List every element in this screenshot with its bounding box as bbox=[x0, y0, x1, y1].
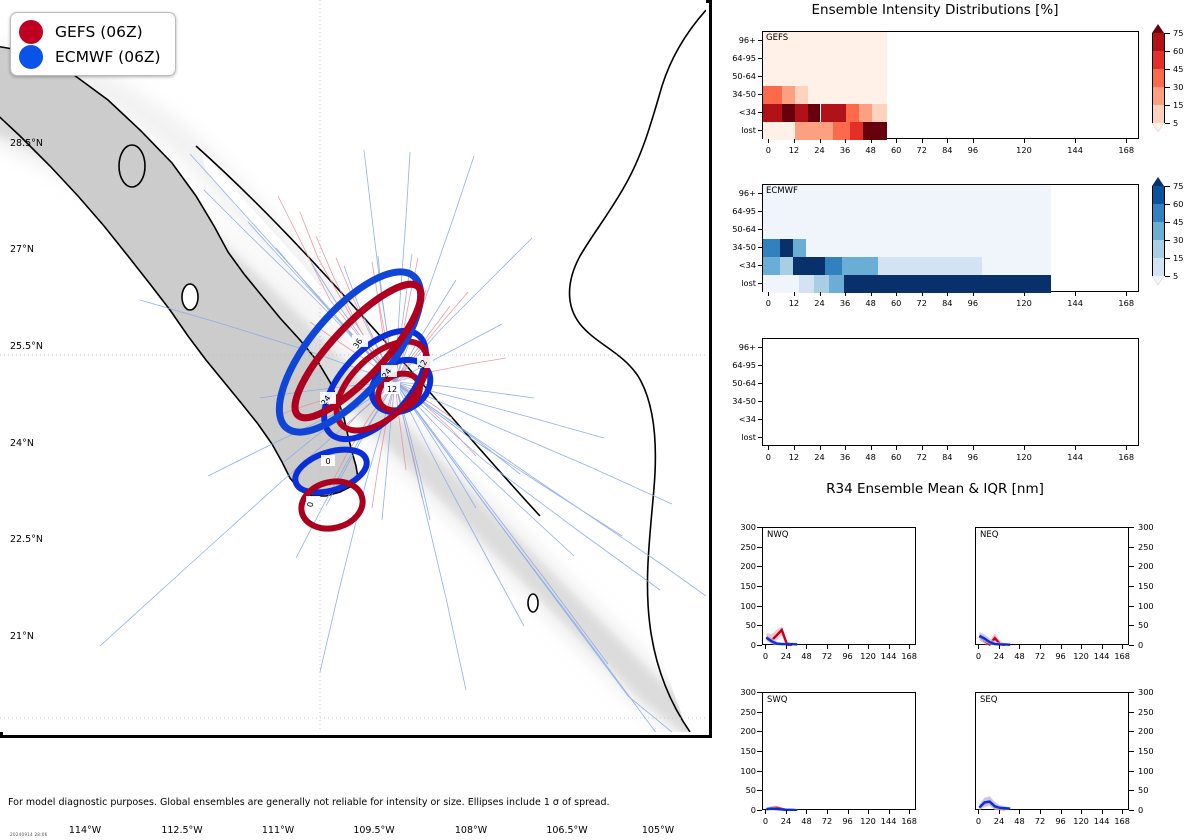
axis-tick bbox=[768, 292, 769, 296]
intensity-x-tick: 24 bbox=[814, 145, 824, 155]
axis-tick bbox=[1126, 292, 1127, 296]
intensity-y-tick: 64-95 bbox=[720, 206, 756, 216]
axis-tick bbox=[757, 586, 762, 587]
r34-panel-seq[interactable] bbox=[975, 692, 1129, 810]
r34-x-tick: 0 bbox=[763, 816, 768, 826]
r34-x-tick: 96 bbox=[842, 816, 852, 826]
legend-label-gefs: GEFS (06Z) bbox=[55, 23, 143, 41]
heatmap-cell bbox=[763, 86, 782, 104]
axis-tick bbox=[827, 645, 828, 649]
axis-tick bbox=[1129, 645, 1134, 646]
colorbar-tick-label: 60 bbox=[1173, 46, 1183, 56]
colorbar-tick bbox=[1165, 258, 1170, 259]
heatmap-cell bbox=[780, 257, 793, 275]
lat-label-3: 25.5°N bbox=[10, 341, 43, 352]
colorbar-tick-label: 15 bbox=[1173, 253, 1183, 263]
axis-tick bbox=[845, 292, 846, 296]
colorbar-tick bbox=[1165, 240, 1170, 241]
axis-tick bbox=[758, 265, 762, 266]
r34-panel-nwq[interactable] bbox=[762, 527, 916, 645]
r34-y-tick: 200 bbox=[722, 561, 756, 571]
axis-tick bbox=[1081, 645, 1082, 649]
axis-tick bbox=[1102, 810, 1103, 814]
axis-tick bbox=[794, 139, 795, 143]
axis-tick bbox=[999, 645, 1000, 649]
r34-y-tick: 100 bbox=[722, 766, 756, 776]
heatmap-cell bbox=[763, 239, 780, 257]
axis-tick bbox=[1129, 810, 1134, 811]
axis-tick bbox=[1075, 292, 1076, 296]
r34-x-tick: 144 bbox=[881, 651, 897, 661]
r34-x-tick: 72 bbox=[822, 651, 832, 661]
heatmap-cell bbox=[793, 239, 806, 257]
intensity-x-tick: 84 bbox=[942, 145, 952, 155]
axis-tick bbox=[922, 139, 923, 143]
r34-section-title: R34 Ensemble Mean & IQR [nm] bbox=[725, 481, 1145, 497]
axis-tick bbox=[758, 211, 762, 212]
axis-tick bbox=[871, 292, 872, 296]
axis-tick bbox=[757, 731, 762, 732]
axis-tick bbox=[758, 247, 762, 248]
axis-tick bbox=[758, 401, 762, 402]
axis-tick bbox=[1129, 692, 1134, 693]
axis-tick bbox=[1024, 292, 1025, 296]
r34-y-tick: 100 bbox=[1138, 601, 1154, 611]
axis-tick bbox=[973, 292, 974, 296]
axis-tick bbox=[922, 292, 923, 296]
colorbar-tick-label: 5 bbox=[1173, 271, 1178, 281]
heatmap-cell bbox=[808, 104, 821, 122]
intensity-x-tick: 48 bbox=[865, 298, 875, 308]
heatmap-cell bbox=[799, 275, 814, 293]
axis-tick bbox=[947, 139, 948, 143]
axis-tick bbox=[1122, 645, 1123, 649]
intensity-panel-empty[interactable] bbox=[762, 338, 1139, 446]
r34-x-tick: 48 bbox=[801, 816, 811, 826]
axis-tick bbox=[1129, 751, 1134, 752]
axis-tick bbox=[1102, 645, 1103, 649]
colorbar-tick-label: 60 bbox=[1173, 199, 1183, 209]
r34-y-tick: 50 bbox=[722, 785, 756, 795]
axis-tick bbox=[1129, 771, 1134, 772]
intensity-x-tick: 72 bbox=[917, 298, 927, 308]
intensity-x-tick: 120 bbox=[1016, 452, 1032, 462]
axis-tick bbox=[757, 625, 762, 626]
colorbar-tick bbox=[1165, 51, 1170, 52]
r34-x-tick: 24 bbox=[994, 816, 1004, 826]
axis-tick bbox=[973, 139, 974, 143]
r34-y-tick: 300 bbox=[1138, 687, 1154, 697]
lat-label-5: 22.5°N bbox=[10, 534, 43, 545]
heatmap-cell bbox=[833, 122, 850, 140]
colorbar-tick bbox=[1165, 33, 1170, 34]
r34-y-tick: 150 bbox=[1138, 581, 1154, 591]
intensity-y-tick: 34-50 bbox=[720, 242, 756, 252]
intensity-y-tick: 50-64 bbox=[720, 71, 756, 81]
colorbar-tick-label: 15 bbox=[1173, 100, 1183, 110]
r34-x-tick: 48 bbox=[1014, 816, 1024, 826]
axis-tick bbox=[1061, 810, 1062, 814]
r34-y-tick: 0 bbox=[1138, 805, 1143, 815]
r34-x-tick: 24 bbox=[994, 651, 1004, 661]
axis-tick bbox=[1129, 790, 1134, 791]
intensity-x-tick: 120 bbox=[1016, 145, 1032, 155]
r34-x-tick: 168 bbox=[1114, 651, 1130, 661]
intensity-x-tick: 0 bbox=[766, 298, 771, 308]
intensity-y-tick: lost bbox=[720, 125, 756, 135]
r34-x-tick: 0 bbox=[976, 816, 981, 826]
axis-tick bbox=[1061, 645, 1062, 649]
axis-tick bbox=[757, 606, 762, 607]
heatmap-cell bbox=[825, 257, 842, 275]
r34-x-tick: 96 bbox=[1055, 651, 1065, 661]
axis-tick bbox=[909, 810, 910, 814]
r34-series-graphic bbox=[763, 528, 917, 646]
colorbar-segment bbox=[1152, 105, 1165, 123]
axis-tick bbox=[757, 527, 762, 528]
axis-tick bbox=[758, 130, 762, 131]
intensity-panel-gefs[interactable] bbox=[762, 31, 1139, 139]
ellipse-hour-label: 12 bbox=[384, 382, 400, 394]
r34-x-tick: 120 bbox=[860, 816, 876, 826]
axis-tick bbox=[794, 292, 795, 296]
intensity-x-tick: 60 bbox=[891, 145, 901, 155]
intensity-x-tick: 0 bbox=[766, 452, 771, 462]
intensity-x-tick: 96 bbox=[968, 452, 978, 462]
panel-tag-ecmwf: ECMWF bbox=[766, 186, 798, 196]
axis-tick bbox=[896, 446, 897, 450]
colorbar-segment bbox=[1152, 240, 1165, 258]
colorbar-tick bbox=[1165, 105, 1170, 106]
heatmap-cell bbox=[982, 257, 1050, 275]
axis-tick bbox=[757, 692, 762, 693]
axis-tick bbox=[757, 771, 762, 772]
heatmap-cell bbox=[782, 104, 795, 122]
intensity-x-tick: 60 bbox=[891, 452, 901, 462]
intensity-panel-ecmwf[interactable] bbox=[762, 184, 1139, 292]
colorbar-tick-label: 45 bbox=[1173, 217, 1183, 227]
heatmap-cell bbox=[795, 104, 808, 122]
axis-tick bbox=[868, 810, 869, 814]
heatmap-cell bbox=[829, 275, 844, 293]
heatmap-cell bbox=[780, 239, 793, 257]
axis-tick bbox=[820, 292, 821, 296]
axis-tick bbox=[758, 58, 762, 59]
r34-y-tick: 250 bbox=[722, 707, 756, 717]
heatmap-cell bbox=[763, 257, 780, 275]
r34-y-tick: 0 bbox=[722, 640, 756, 650]
panel-tag-gefs: GEFS bbox=[766, 33, 788, 43]
r34-x-tick: 72 bbox=[1035, 816, 1045, 826]
colorbar-max-arrow bbox=[1152, 24, 1164, 33]
r34-x-tick: 96 bbox=[842, 651, 852, 661]
intensity-x-tick: 84 bbox=[942, 452, 952, 462]
axis-tick bbox=[922, 446, 923, 450]
panel-tag-nwq: NWQ bbox=[767, 530, 788, 540]
lat-label-2: 27°N bbox=[10, 244, 34, 255]
intensity-x-tick: 24 bbox=[814, 298, 824, 308]
heatmap-cell bbox=[806, 239, 1051, 257]
colorbar-tick bbox=[1165, 123, 1170, 124]
intensity-y-tick: 64-95 bbox=[720, 53, 756, 63]
r34-y-tick: 250 bbox=[1138, 542, 1154, 552]
intensity-section-title: Ensemble Intensity Distributions [%] bbox=[725, 2, 1145, 18]
ellipse-hour-label: 0 bbox=[306, 496, 320, 508]
intensity-x-tick: 48 bbox=[865, 145, 875, 155]
r34-y-tick: 300 bbox=[722, 522, 756, 532]
intensity-y-tick: <34 bbox=[720, 107, 756, 117]
r34-y-tick: 300 bbox=[1138, 522, 1154, 532]
axis-tick bbox=[1040, 810, 1041, 814]
r34-y-tick: 100 bbox=[1138, 766, 1154, 776]
axis-tick bbox=[848, 645, 849, 649]
axis-tick bbox=[827, 810, 828, 814]
heatmap-cell bbox=[863, 122, 886, 140]
heatmap-cell bbox=[814, 275, 829, 293]
r34-y-tick: 50 bbox=[1138, 785, 1148, 795]
intensity-x-tick: 12 bbox=[789, 298, 799, 308]
axis-tick bbox=[786, 645, 787, 649]
r34-y-tick: 0 bbox=[1138, 640, 1143, 650]
colorbar-tick bbox=[1165, 186, 1170, 187]
axis-tick bbox=[758, 419, 762, 420]
intensity-x-tick: 168 bbox=[1118, 145, 1134, 155]
intensity-x-tick: 168 bbox=[1118, 298, 1134, 308]
intensity-y-tick: <34 bbox=[720, 260, 756, 270]
colorbar-min-arrow bbox=[1152, 276, 1164, 285]
heatmap-cell bbox=[846, 104, 859, 122]
legend-item-gefs[interactable]: GEFS (06Z) bbox=[19, 19, 161, 44]
r34-y-tick: 250 bbox=[1138, 707, 1154, 717]
colorbar-gefs bbox=[1152, 33, 1165, 123]
colorbar-tick bbox=[1165, 204, 1170, 205]
intensity-x-tick: 144 bbox=[1067, 298, 1083, 308]
intensity-y-tick: 50-64 bbox=[720, 378, 756, 388]
axis-tick bbox=[868, 645, 869, 649]
r34-series-graphic bbox=[976, 693, 1130, 811]
axis-tick bbox=[999, 810, 1000, 814]
axis-tick bbox=[820, 446, 821, 450]
intensity-x-tick: 72 bbox=[917, 145, 927, 155]
axis-tick bbox=[1075, 446, 1076, 450]
axis-tick bbox=[1040, 645, 1041, 649]
lat-label-6: 21°N bbox=[10, 631, 34, 642]
axis-tick bbox=[1081, 810, 1082, 814]
axis-tick bbox=[973, 446, 974, 450]
r34-x-tick: 144 bbox=[1094, 651, 1110, 661]
r34-x-tick: 24 bbox=[781, 651, 791, 661]
intensity-x-tick: 144 bbox=[1067, 452, 1083, 462]
axis-tick bbox=[758, 76, 762, 77]
intensity-y-tick: <34 bbox=[720, 414, 756, 424]
r34-y-tick: 100 bbox=[722, 601, 756, 611]
axis-tick bbox=[947, 292, 948, 296]
forecast-track-map[interactable]: 0 0 12 12 24 24 bbox=[0, 0, 712, 738]
r34-y-tick: 200 bbox=[1138, 561, 1154, 571]
axis-tick bbox=[1075, 139, 1076, 143]
axis-tick bbox=[1129, 606, 1134, 607]
r34-series-graphic bbox=[976, 528, 1130, 646]
axis-tick bbox=[1126, 446, 1127, 450]
r34-x-tick: 120 bbox=[1073, 651, 1089, 661]
axis-tick bbox=[978, 810, 979, 814]
intensity-y-tick: 34-50 bbox=[720, 396, 756, 406]
r34-y-tick: 200 bbox=[722, 726, 756, 736]
r34-x-tick: 0 bbox=[763, 651, 768, 661]
intensity-y-tick: lost bbox=[720, 432, 756, 442]
colorbar-tick bbox=[1165, 87, 1170, 88]
r34-y-tick: 150 bbox=[722, 581, 756, 591]
r34-x-tick: 48 bbox=[1014, 651, 1024, 661]
colorbar-segment bbox=[1152, 258, 1165, 276]
intensity-x-tick: 36 bbox=[840, 145, 850, 155]
axis-tick bbox=[806, 810, 807, 814]
r34-x-tick: 144 bbox=[881, 816, 897, 826]
heatmap-cell bbox=[763, 68, 887, 86]
intensity-y-tick: 96+ bbox=[720, 342, 756, 352]
ellipse-hour-label: 0 bbox=[321, 455, 335, 466]
axis-tick bbox=[978, 645, 979, 649]
axis-tick bbox=[889, 645, 890, 649]
colorbar-segment bbox=[1152, 33, 1165, 51]
heatmap-cell bbox=[872, 104, 887, 122]
r34-x-tick: 24 bbox=[781, 816, 791, 826]
axis-tick bbox=[758, 94, 762, 95]
colorbar-tick bbox=[1165, 69, 1170, 70]
colorbar-segment bbox=[1152, 186, 1165, 204]
axis-tick bbox=[1024, 446, 1025, 450]
colorbar-tick-label: 30 bbox=[1173, 82, 1183, 92]
r34-panel-neq[interactable] bbox=[975, 527, 1129, 645]
axis-tick bbox=[758, 365, 762, 366]
axis-tick bbox=[758, 229, 762, 230]
axis-tick bbox=[768, 446, 769, 450]
heatmap-cell bbox=[763, 185, 1051, 203]
r34-y-tick: 0 bbox=[722, 805, 756, 815]
r34-x-tick: 168 bbox=[901, 816, 917, 826]
ecmwf-color-swatch bbox=[19, 45, 43, 69]
legend-label-ecmwf: ECMWF (06Z) bbox=[55, 48, 161, 66]
r34-x-tick: 144 bbox=[1094, 816, 1110, 826]
colorbar-segment bbox=[1152, 222, 1165, 240]
axis-tick bbox=[806, 645, 807, 649]
heatmap-cell bbox=[763, 50, 887, 68]
colorbar-tick-label: 5 bbox=[1173, 118, 1178, 128]
axis-tick bbox=[757, 547, 762, 548]
intensity-x-tick: 24 bbox=[814, 452, 824, 462]
colorbar-tick bbox=[1165, 222, 1170, 223]
r34-x-tick: 48 bbox=[801, 651, 811, 661]
r34-x-tick: 120 bbox=[860, 651, 876, 661]
r34-y-tick: 200 bbox=[1138, 726, 1154, 736]
intensity-x-tick: 144 bbox=[1067, 145, 1083, 155]
map-legend: GEFS (06Z) ECMWF (06Z) bbox=[10, 12, 176, 76]
r34-panel-swq[interactable] bbox=[762, 692, 916, 810]
axis-tick bbox=[1129, 731, 1134, 732]
axis-tick bbox=[1122, 810, 1123, 814]
colorbar-min-arrow bbox=[1152, 123, 1164, 132]
axis-tick bbox=[909, 645, 910, 649]
legend-item-ecmwf[interactable]: ECMWF (06Z) bbox=[19, 44, 161, 69]
axis-tick bbox=[794, 446, 795, 450]
r34-x-tick: 120 bbox=[1073, 816, 1089, 826]
colorbar-tick bbox=[1165, 276, 1170, 277]
axis-tick bbox=[1024, 139, 1025, 143]
axis-tick bbox=[758, 347, 762, 348]
heatmap-cell bbox=[844, 275, 1051, 293]
colorbar-segment bbox=[1152, 51, 1165, 69]
intensity-x-tick: 84 bbox=[942, 298, 952, 308]
axis-tick bbox=[758, 383, 762, 384]
axis-tick bbox=[845, 446, 846, 450]
heatmap-cell bbox=[763, 221, 1051, 239]
axis-tick bbox=[1019, 810, 1020, 814]
intensity-x-tick: 0 bbox=[766, 145, 771, 155]
heatmap-cell bbox=[763, 122, 795, 140]
gefs-color-swatch bbox=[19, 20, 43, 44]
axis-tick bbox=[1129, 712, 1134, 713]
axis-tick bbox=[889, 810, 890, 814]
axis-tick bbox=[757, 810, 762, 811]
colorbar-tick-label: 45 bbox=[1173, 64, 1183, 74]
heatmap-cell bbox=[859, 104, 872, 122]
heatmap-cell bbox=[795, 86, 808, 104]
colorbar-ecmwf bbox=[1152, 186, 1165, 276]
intensity-y-tick: 64-95 bbox=[720, 360, 756, 370]
axis-tick bbox=[871, 139, 872, 143]
heatmap-cell bbox=[795, 122, 833, 140]
intensity-x-tick: 12 bbox=[789, 452, 799, 462]
r34-series-graphic bbox=[763, 693, 917, 811]
heatmap-cell bbox=[793, 257, 825, 275]
intensity-x-tick: 36 bbox=[840, 298, 850, 308]
axis-tick bbox=[786, 810, 787, 814]
colorbar-segment bbox=[1152, 87, 1165, 105]
heatmap-cell bbox=[782, 86, 795, 104]
intensity-x-tick: 96 bbox=[968, 145, 978, 155]
axis-tick bbox=[757, 645, 762, 646]
intensity-x-tick: 60 bbox=[891, 298, 901, 308]
heatmap-cell bbox=[850, 122, 863, 140]
axis-tick bbox=[758, 40, 762, 41]
intensity-x-tick: 12 bbox=[789, 145, 799, 155]
axis-tick bbox=[765, 810, 766, 814]
r34-x-tick: 72 bbox=[1035, 651, 1045, 661]
colorbar-tick-label: 30 bbox=[1173, 235, 1183, 245]
axis-tick bbox=[1129, 527, 1134, 528]
svg-text:0: 0 bbox=[325, 457, 330, 466]
intensity-x-tick: 120 bbox=[1016, 298, 1032, 308]
intensity-x-tick: 96 bbox=[968, 298, 978, 308]
axis-tick bbox=[757, 751, 762, 752]
heatmap-cell bbox=[842, 257, 878, 275]
axis-tick bbox=[758, 193, 762, 194]
colorbar-segment bbox=[1152, 69, 1165, 87]
axis-tick bbox=[1129, 625, 1134, 626]
axis-tick bbox=[1129, 547, 1134, 548]
axis-tick bbox=[758, 437, 762, 438]
r34-x-tick: 96 bbox=[1055, 816, 1065, 826]
r34-y-tick: 250 bbox=[722, 542, 756, 552]
axis-tick bbox=[896, 139, 897, 143]
axis-tick bbox=[848, 810, 849, 814]
intensity-y-tick: 96+ bbox=[720, 188, 756, 198]
axis-tick bbox=[757, 712, 762, 713]
heatmap-cell bbox=[763, 104, 782, 122]
axis-tick bbox=[871, 446, 872, 450]
axis-tick bbox=[765, 645, 766, 649]
r34-x-tick: 168 bbox=[901, 651, 917, 661]
